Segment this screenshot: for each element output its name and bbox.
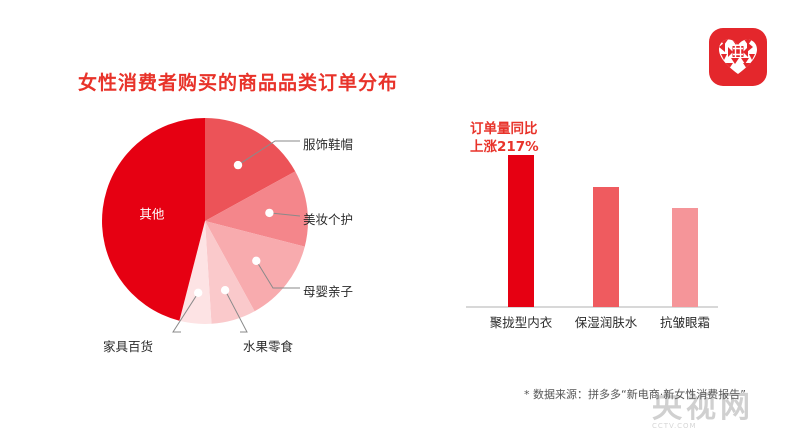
annotation-line-2: 上涨217% [470, 138, 539, 156]
bar-rect-1 [508, 155, 534, 307]
pie-marker-dot-5 [194, 289, 202, 297]
pie-label-fruit-snacks: 水果零食 [243, 336, 293, 355]
pie-slice-label-other: 其他 [139, 206, 165, 221]
heart-lattice-icon [717, 36, 759, 78]
pie-label-home-goods: 家具百货 [103, 336, 153, 355]
bar-column-1 [508, 155, 534, 307]
infographic-canvas: 女性消费者购买的商品品类订单分布 [0, 0, 790, 444]
bar-column-3 [672, 155, 698, 307]
pie-slices [102, 118, 308, 324]
pie-marker-dot-2 [265, 209, 273, 217]
bar-label-2: 保湿润肤水 [559, 312, 653, 331]
pie-marker-dot-3 [252, 257, 260, 265]
source-note: * 数据来源：拼多多“新电商·新女性消费报告” [524, 386, 746, 402]
bar-chart-annotation: 订单量同比 上涨217% [470, 120, 539, 156]
bar-label-3: 抗皱眼霜 [641, 312, 729, 331]
page-title: 女性消费者购买的商品品类订单分布 [78, 68, 398, 95]
bar-label-1: 聚拢型内衣 [474, 312, 568, 331]
pie-label-maternal: 母婴亲子 [303, 281, 353, 300]
bar-rect-2 [593, 187, 619, 307]
pie-marker-dot-1 [234, 161, 242, 169]
pinduoduo-logo [709, 28, 767, 86]
pie-label-beauty: 美妆个护 [303, 209, 353, 228]
bar-chart: 订单量同比 上涨217% 聚拢型内衣 保湿润肤水 抗皱眼霜 [460, 120, 740, 335]
pie-marker-dot-4 [221, 286, 229, 294]
bar-column-2 [593, 155, 619, 307]
annotation-line-1: 订单量同比 [470, 120, 539, 138]
watermark-sub-text: CCTV.COM [652, 422, 784, 430]
pie-chart: 其他 服饰鞋帽 美妆个护 母婴亲子 水果零食 家具百货 [95, 108, 340, 333]
pie-label-apparel: 服饰鞋帽 [303, 134, 353, 153]
bar-rect-3 [672, 208, 698, 307]
